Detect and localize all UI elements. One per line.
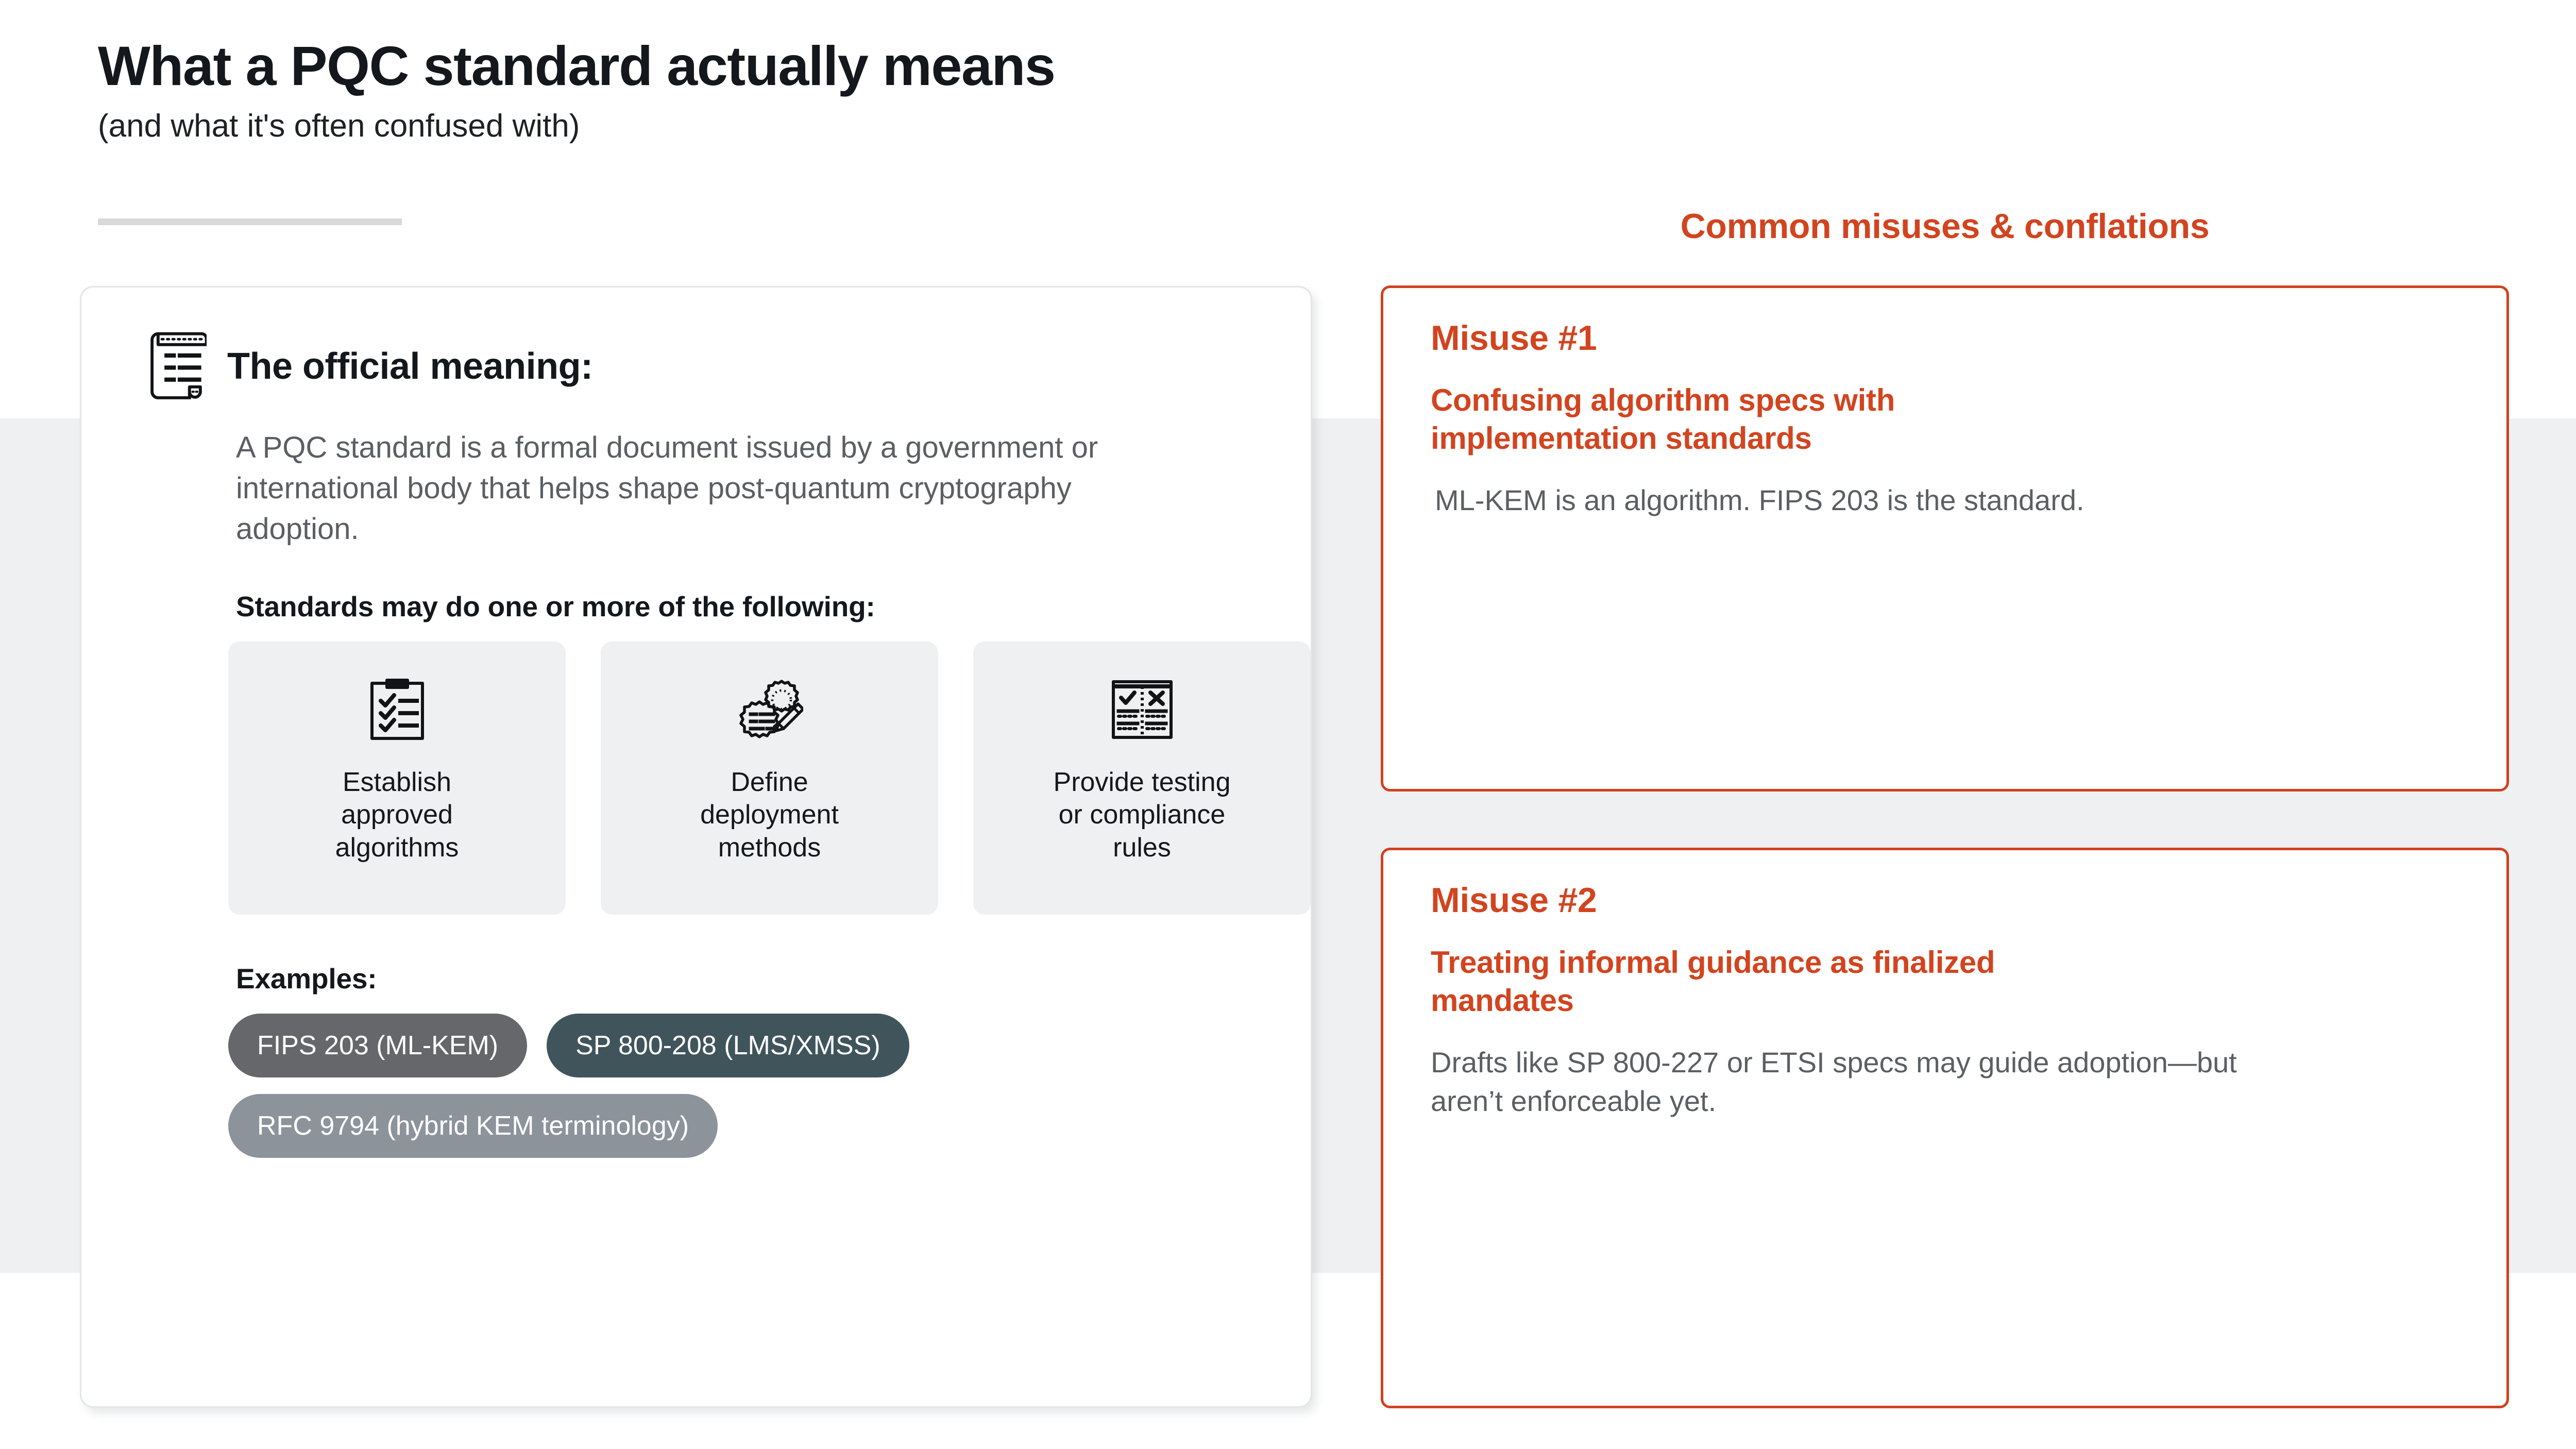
scroll-document-icon <box>146 328 207 405</box>
card-description: A PQC standard is a formal document issu… <box>81 428 1311 550</box>
gears-pencil-icon <box>736 673 803 746</box>
examples-label: Examples: <box>81 962 1311 995</box>
page-subtitle: (and what it's often confused with) <box>98 108 1055 144</box>
card-header: The official meaning: <box>81 288 1311 405</box>
misuse-headline: Confusing algorithm specs with implement… <box>1431 381 2100 457</box>
page-header: What a PQC standard actually means (and … <box>98 36 1055 144</box>
card-heading: The official meaning: <box>227 348 593 385</box>
tile-label: Establish approved algorithms <box>335 766 459 864</box>
misuse-body: Drafts like SP 800-227 or ETSI specs may… <box>1431 1043 2317 1120</box>
misuse-card-1: Misuse #1 Confusing algorithm specs with… <box>1381 285 2509 791</box>
clipboard-checklist-icon <box>369 673 425 746</box>
misuse-card-2: Misuse #2 Treating informal guidance as … <box>1381 848 2509 1408</box>
pill-row: RFC 9794 (hybrid KEM terminology) <box>228 1094 1311 1158</box>
misuses-section-heading: Common misuses & conflations <box>1381 206 2509 246</box>
example-pills: FIPS 203 (ML-KEM) SP 800-208 (LMS/XMSS) … <box>81 1014 1311 1158</box>
misuse-body: ML-KEM is an algorithm. FIPS 203 is the … <box>1431 481 2317 519</box>
pill-sp-800-208[interactable]: SP 800-208 (LMS/XMSS) <box>547 1014 909 1077</box>
tile-provide-testing-compliance-rules[interactable]: Provide testing or compliance rules <box>973 642 1311 915</box>
tile-define-deployment-methods[interactable]: Define deployment methods <box>601 642 938 915</box>
misuse-headline: Treating informal guidance as finalized … <box>1431 943 2100 1019</box>
tile-label: Define deployment methods <box>700 766 839 864</box>
official-meaning-card: The official meaning: A PQC standard is … <box>80 286 1312 1408</box>
tile-establish-approved-algorithms[interactable]: Establish approved algorithms <box>228 642 566 915</box>
tile-label: Provide testing or compliance rules <box>1054 766 1231 864</box>
standards-section-label: Standards may do one or more of the foll… <box>81 590 1311 623</box>
pill-rfc-9794[interactable]: RFC 9794 (hybrid KEM terminology) <box>228 1094 718 1158</box>
page-title: What a PQC standard actually means <box>98 36 1055 96</box>
header-divider <box>98 218 402 225</box>
pill-row: FIPS 203 (ML-KEM) SP 800-208 (LMS/XMSS) <box>228 1014 1311 1077</box>
misuse-number: Misuse #1 <box>1431 320 2472 357</box>
slide-canvas: What a PQC standard actually means (and … <box>0 0 2576 1449</box>
pill-fips-203[interactable]: FIPS 203 (ML-KEM) <box>228 1014 527 1077</box>
compare-check-cross-table-icon <box>1111 673 1174 746</box>
capability-tiles: Establish approved algorithms <box>81 642 1311 915</box>
misuse-number: Misuse #2 <box>1431 882 2472 919</box>
